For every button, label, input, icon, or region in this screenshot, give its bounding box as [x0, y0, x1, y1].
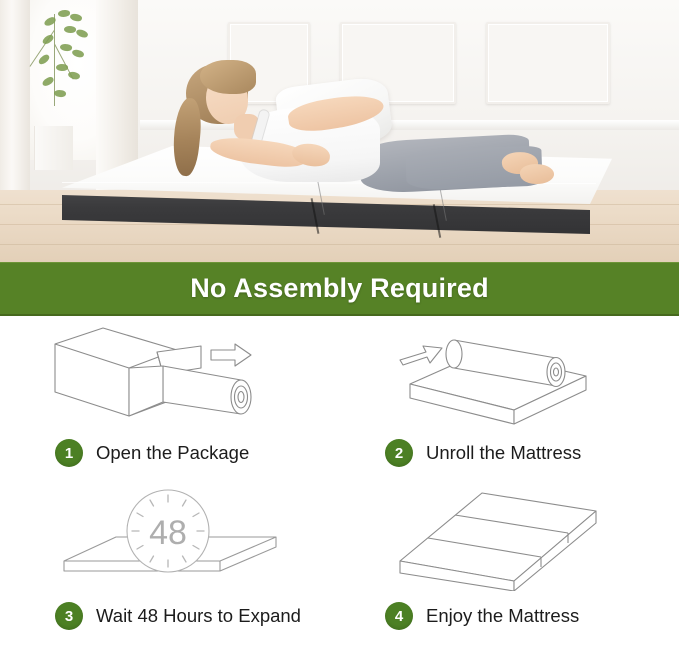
clock-value: 48: [149, 514, 187, 552]
step-3-badge: 3: [55, 602, 83, 630]
step-1-label-row: 1 Open the Package: [0, 439, 339, 467]
step-3-label: Wait 48 Hours to Expand: [96, 605, 301, 627]
step-2-badge: 2: [385, 439, 413, 467]
trifold-mattress-flat-icon: [340, 485, 679, 595]
banner-title: No Assembly Required: [190, 273, 489, 304]
steps-section: 1 Open the Package: [0, 318, 679, 645]
step-2-label-row: 2 Unroll the Mattress: [340, 439, 679, 467]
no-assembly-banner: No Assembly Required: [0, 262, 679, 316]
box-with-rolled-mattress-icon: [0, 322, 339, 432]
step-1: 1 Open the Package: [0, 318, 339, 481]
unrolling-mattress-icon: [340, 322, 679, 432]
step-4: 4 Enjoy the Mattress: [340, 481, 679, 644]
model-person: [170, 52, 550, 202]
ponytail: [170, 97, 204, 177]
hero-scene: [0, 0, 679, 262]
step-4-label-row: 4 Enjoy the Mattress: [340, 602, 679, 630]
step-1-label: Open the Package: [96, 442, 249, 464]
step-3-label-row: 3 Wait 48 Hours to Expand: [0, 602, 339, 630]
hero-photo: [0, 0, 679, 262]
hair-top: [200, 60, 256, 94]
step-4-label: Enjoy the Mattress: [426, 605, 579, 627]
foot: [519, 163, 554, 185]
step-1-badge: 1: [55, 439, 83, 467]
step-2-label: Unroll the Mattress: [426, 442, 581, 464]
mattress-with-clock-icon: 48: [0, 485, 339, 595]
step-4-badge: 4: [385, 602, 413, 630]
house-plant: [24, 4, 102, 108]
product-infographic: No Assembly Required: [0, 0, 679, 645]
step-3: 48 3 Wait 48 Hours to Expand: [0, 481, 339, 644]
step-2: 2 Unroll the Mattress: [340, 318, 679, 481]
